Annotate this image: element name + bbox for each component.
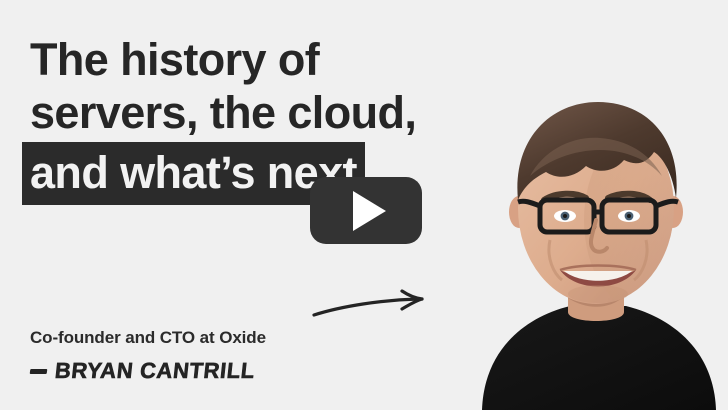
hand-drawn-arrow-icon — [312, 288, 438, 324]
speaker-row: BRYAN CANTRILL — [30, 358, 266, 384]
shirt — [482, 306, 716, 410]
play-button[interactable] — [310, 177, 422, 244]
speaker-role: Co-founder and CTO at Oxide — [30, 328, 266, 348]
headline: The history of servers, the cloud, and w… — [30, 33, 550, 205]
play-triangle-icon — [353, 191, 386, 231]
dash-icon — [30, 369, 48, 374]
headline-line-1: The history of — [30, 33, 550, 86]
caption-block: Co-founder and CTO at Oxide BRYAN CANTRI… — [30, 328, 266, 384]
headline-line-2: servers, the cloud, — [30, 86, 550, 139]
video-thumbnail-card[interactable]: The history of servers, the cloud, and w… — [0, 0, 728, 410]
speaker-name: BRYAN CANTRILL — [54, 358, 257, 384]
